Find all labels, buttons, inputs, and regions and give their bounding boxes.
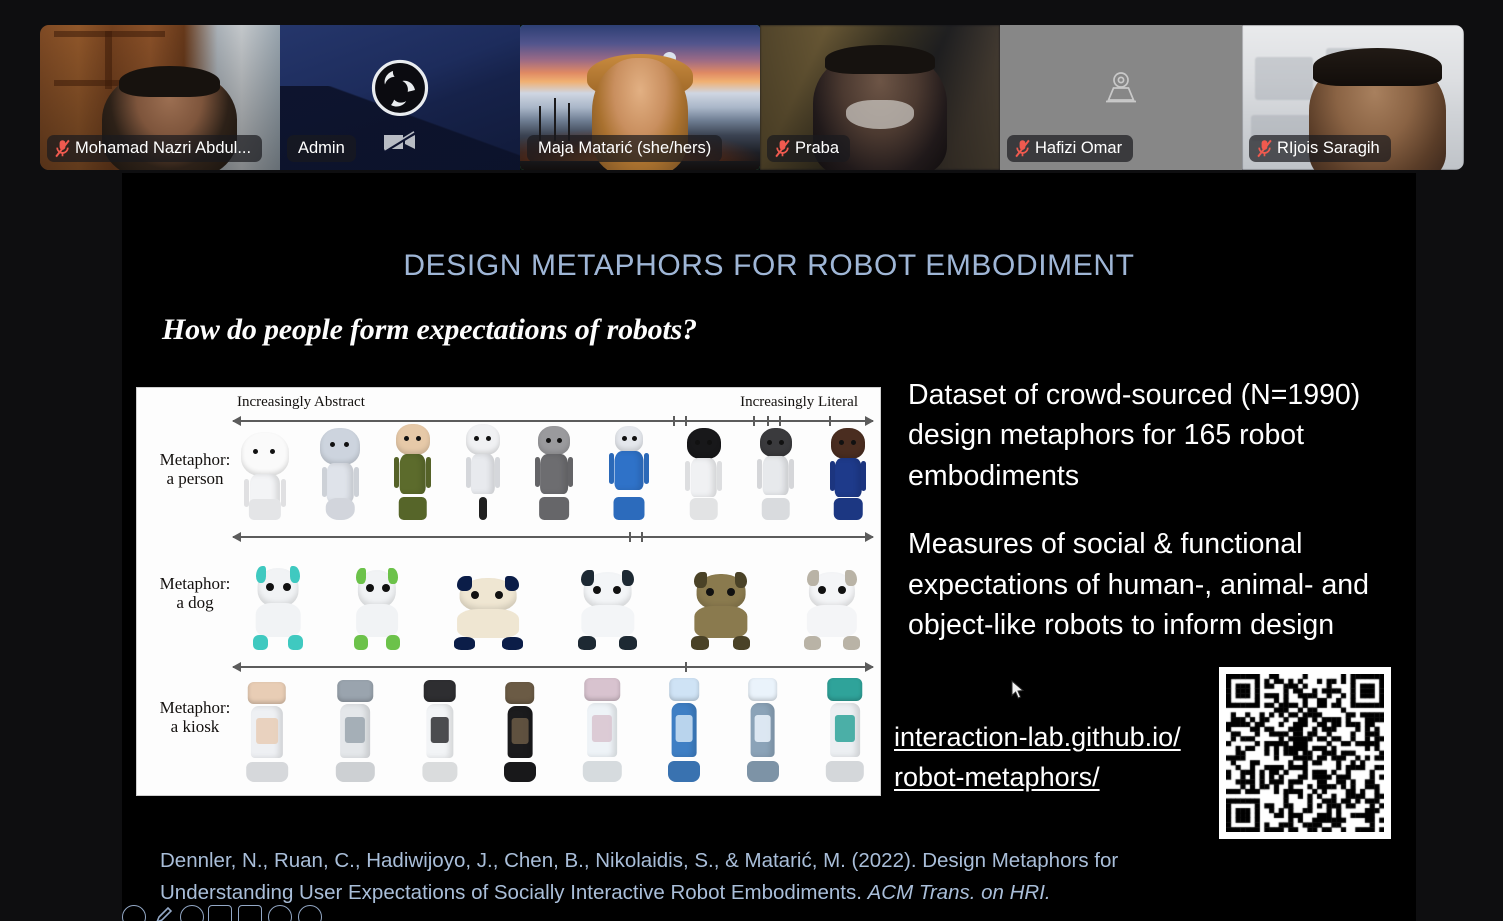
robot-thumbnail: [578, 678, 626, 782]
robot-thumbnail: [684, 572, 758, 650]
pen-icon[interactable]: [154, 905, 176, 921]
mouse-cursor: [1011, 680, 1025, 700]
shared-slide: DESIGN METAPHORS FOR ROBOT EMBODIMENT Ho…: [122, 173, 1416, 921]
robot-thumbnail: [241, 682, 293, 782]
participant-tile-2[interactable]: Maja Matarić (she/hers): [520, 25, 760, 170]
figure-robot-row-2: [241, 670, 869, 782]
participant-name-badge-1: Admin: [287, 135, 356, 162]
figure-axis-row-2: [233, 666, 873, 668]
figure-axis-label-abstract: Increasingly Abstract: [237, 394, 365, 411]
robot-thumbnail: [821, 678, 869, 782]
robot-thumbnail: [664, 678, 704, 782]
mic-muted-icon: [1015, 139, 1030, 158]
robot-thumbnail: [753, 428, 799, 520]
figure-axis-row-1: [233, 536, 873, 538]
slide-paragraph-2: Measures of social & functional expectat…: [908, 524, 1388, 645]
figure-axis-label-literal: Increasingly Literal: [740, 394, 858, 411]
robot-thumbnail: [462, 424, 504, 520]
robot-thumbnail: [571, 570, 645, 650]
participant-name-1: Admin: [298, 139, 345, 158]
qr-code[interactable]: [1219, 667, 1391, 839]
citation-line-1: Dennler, N., Ruan, C., Hadiwijoyo, J., C…: [160, 849, 1118, 872]
link-line-1: interaction-lab.github.io/: [894, 722, 1181, 752]
figure-axis-row-0: [233, 420, 873, 422]
figure-robot-row-0: [239, 424, 871, 520]
participant-name-0: Mohamad Nazri Abdul...: [75, 139, 251, 158]
participant-name-badge-2: Maja Matarić (she/hers): [527, 135, 722, 162]
annotation-toolbar[interactable]: [122, 905, 372, 921]
mic-muted-icon: [775, 139, 790, 158]
robot-thumbnail: [500, 682, 540, 782]
participant-name-2: Maja Matarić (she/hers): [538, 139, 711, 158]
forward-icon[interactable]: [298, 905, 322, 921]
participant-tile-5[interactable]: RIjois Saragih: [1242, 25, 1464, 170]
slide-body-text: Dataset of crowd-sourced (N=1990) design…: [908, 375, 1388, 674]
participant-tile-3[interactable]: Praba: [760, 25, 1000, 170]
participant-tile-1[interactable]: Admin: [280, 25, 520, 170]
robot-thumbnail: [348, 568, 406, 650]
participant-name-badge-3: Praba: [767, 135, 850, 162]
slide-project-link[interactable]: interaction-lab.github.io/ robot-metapho…: [894, 718, 1234, 798]
robot-thumbnail: [797, 570, 867, 650]
figure-row-label-2: Metaphor: a kiosk: [145, 698, 245, 736]
robot-thumbnail: [418, 680, 462, 782]
participant-tile-0[interactable]: Mohamad Nazri Abdul...: [40, 25, 280, 170]
robot-thumbnail: [239, 432, 291, 520]
slide-paragraph-1: Dataset of crowd-sourced (N=1990) design…: [908, 375, 1388, 496]
robot-thumbnail: [445, 576, 531, 650]
robot-thumbnail: [604, 426, 654, 520]
citation-line-2: Understanding User Expectations of Socia…: [160, 881, 868, 904]
participant-name-5: RIjois Saragih: [1277, 139, 1380, 158]
robot-thumbnail: [681, 428, 727, 520]
figure-row-label-0: Metaphor: a person: [145, 450, 245, 488]
mic-muted-icon: [1257, 139, 1272, 158]
citation-journal: ACM Trans. on HRI.: [868, 881, 1051, 904]
robot-thumbnail: [317, 428, 363, 520]
slide-citation: Dennler, N., Ruan, C., Hadiwijoyo, J., C…: [160, 845, 1360, 909]
stamp-icon[interactable]: [180, 905, 204, 921]
participant-name-badge-0: Mohamad Nazri Abdul...: [47, 135, 262, 162]
slide-subtitle: How do people form expectations of robot…: [162, 313, 697, 347]
mic-muted-icon: [55, 139, 70, 158]
robot-thumbnail: [247, 566, 309, 650]
obs-logo-icon: [371, 58, 429, 121]
participant-name-4: Hafizi Omar: [1035, 139, 1122, 158]
back-icon[interactable]: [122, 905, 146, 921]
figure-row-label-1: Metaphor: a dog: [145, 574, 245, 612]
participant-name-badge-5: RIjois Saragih: [1249, 135, 1391, 162]
link-line-2: robot-metaphors/: [894, 762, 1100, 792]
participant-name-3: Praba: [795, 139, 839, 158]
video-icon[interactable]: [238, 905, 262, 921]
robot-thumbnail: [825, 428, 871, 520]
camera-off-icon: [383, 131, 417, 158]
robot-thumbnail: [743, 678, 783, 782]
robot-thumbnail: [390, 424, 436, 520]
participant-filmstrip: Mohamad Nazri Abdul...: [40, 25, 1464, 170]
text-icon[interactable]: [208, 905, 232, 921]
webcam-placeholder-icon: [1101, 70, 1141, 113]
slide-title: DESIGN METAPHORS FOR ROBOT EMBODIMENT: [122, 249, 1416, 283]
more-icon[interactable]: [268, 905, 292, 921]
figure-robot-row-1: [247, 540, 867, 650]
participant-tile-4[interactable]: Hafizi Omar: [1000, 25, 1242, 170]
robot-thumbnail: [331, 680, 379, 782]
participant-name-badge-4: Hafizi Omar: [1007, 135, 1133, 162]
robot-thumbnail: [530, 426, 578, 520]
zoom-screen-share-window: Mohamad Nazri Abdul...: [0, 0, 1503, 921]
robot-metaphor-figure: Increasingly Abstract Increasingly Liter…: [136, 387, 881, 796]
